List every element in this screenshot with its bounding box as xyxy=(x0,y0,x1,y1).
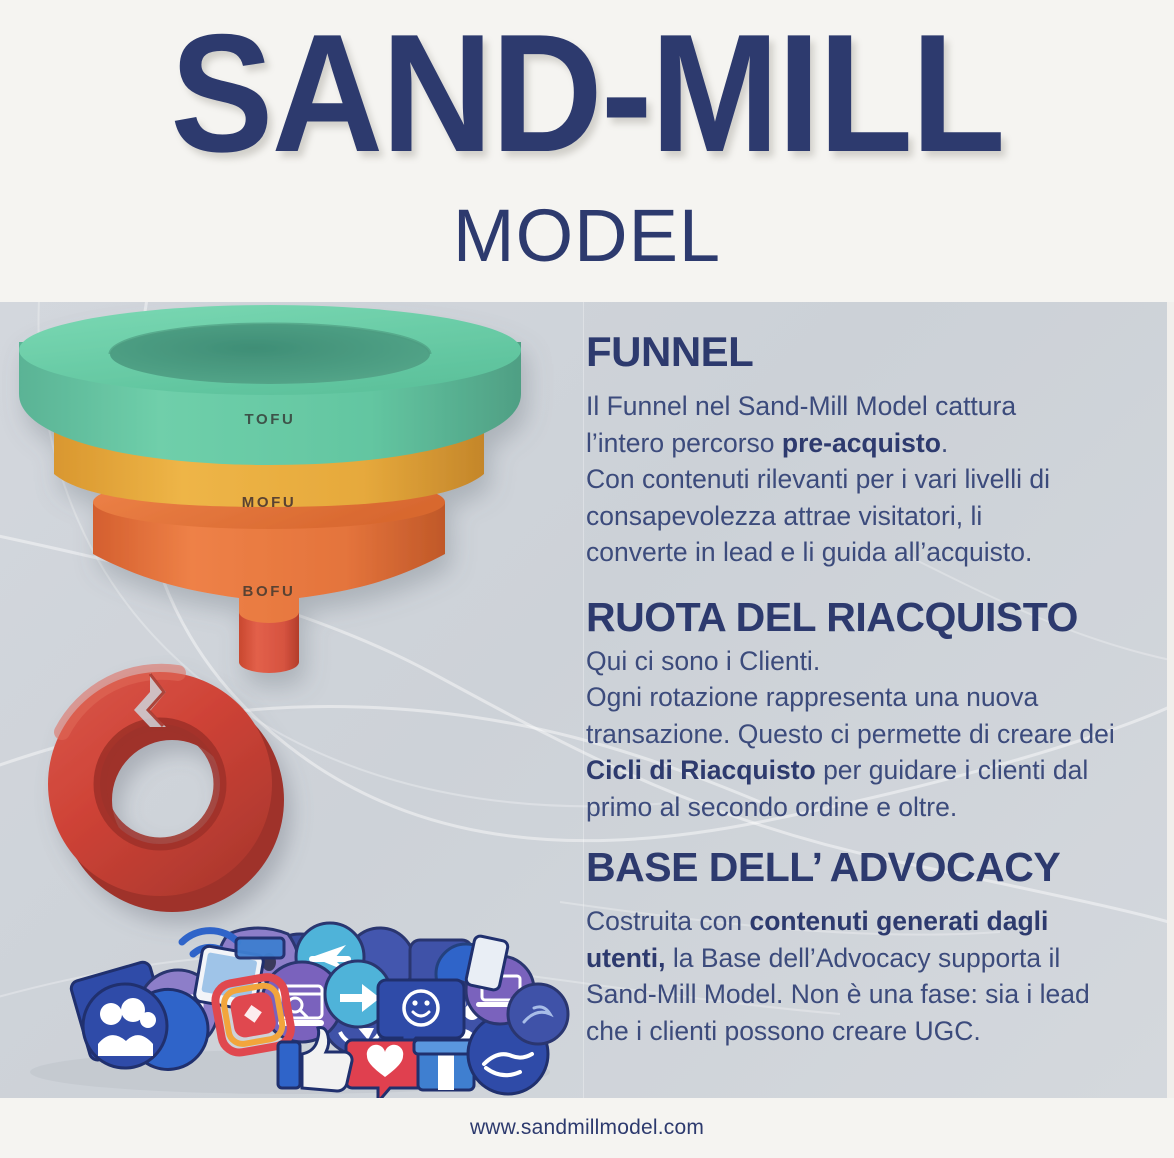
line: consapevolezza attrae visitatori, li xyxy=(586,498,1156,535)
section-ruota: RUOTA DEL RIACQUISTO Qui ci sono i Clien… xyxy=(586,591,1156,826)
line: Cicli di Riacquisto per guidare i client… xyxy=(586,752,1156,789)
line: Sand-Mill Model. Non è una fase: sia i l… xyxy=(586,976,1156,1013)
section-heading-ruota: RUOTA DEL RIACQUISTO xyxy=(586,591,1156,643)
funnel-label-mofu: MOFU xyxy=(242,494,297,511)
line: Con contenuti rilevanti per i vari livel… xyxy=(586,461,1156,498)
section-body-funnel: Il Funnel nel Sand-Mill Model cattura l’… xyxy=(586,388,1156,571)
line: l’intero percorso pre-acquisto. xyxy=(586,425,1156,462)
gift-box-2-icon xyxy=(236,938,284,958)
infographic-page: SAND-MILL MODEL xyxy=(0,0,1174,1158)
bird-icon xyxy=(508,984,568,1044)
website-link[interactable]: www.sandmillmodel.com xyxy=(470,1116,704,1140)
group-people-icon xyxy=(83,984,167,1068)
funnel-label-bofu: BOFU xyxy=(243,583,296,600)
section-body-advocacy: Costruita con contenuti generati dagli u… xyxy=(586,903,1156,1049)
stage-right-edge xyxy=(1167,302,1174,1098)
line: Ogni rotazione rappresenta una nuova xyxy=(586,679,1156,716)
line: utenti, la Base dell’Advocacy supporta i… xyxy=(586,940,1156,977)
page-title: SAND-MILL xyxy=(47,8,1127,178)
line: Costruita con contenuti generati dagli xyxy=(586,903,1156,940)
section-funnel: FUNNEL Il Funnel nel Sand-Mill Model cat… xyxy=(586,326,1156,571)
section-heading-funnel: FUNNEL xyxy=(586,326,1156,378)
funnel-tier-tofu: TOFU xyxy=(19,305,521,465)
page-subtitle: MODEL xyxy=(0,196,1174,276)
line: transazione. Questo ci permette di crear… xyxy=(586,716,1156,753)
heart-reaction-icon xyxy=(346,1040,424,1098)
line: Qui ci sono i Clienti. xyxy=(586,643,1156,680)
text-column: FUNNEL Il Funnel nel Sand-Mill Model cat… xyxy=(586,302,1172,1098)
section-body-ruota: Qui ci sono i Clienti. Ogni rotazione ra… xyxy=(586,643,1156,826)
panel-divider xyxy=(583,302,584,1098)
funnel-graphic: BOFU MOFU TOFU xyxy=(19,305,521,673)
line: primo al secondo ordine e oltre. xyxy=(586,789,1156,826)
repurchase-wheel-graphic xyxy=(48,651,384,912)
section-heading-advocacy: BASE DELL’ ADVOCACY xyxy=(586,841,1156,893)
funnel-label-tofu: TOFU xyxy=(245,411,296,428)
line: che i clienti possono creare UGC. xyxy=(586,1013,1156,1050)
section-advocacy: BASE DELL’ ADVOCACY Costruita con conten… xyxy=(586,841,1156,1049)
illustration-column: BOFU MOFU TOFU xyxy=(0,302,583,1098)
line: converte in lead e li guida all’acquisto… xyxy=(586,534,1156,571)
line: Il Funnel nel Sand-Mill Model cattura xyxy=(586,388,1156,425)
header-band: SAND-MILL MODEL xyxy=(0,0,1174,302)
footer-band: www.sandmillmodel.com xyxy=(0,1098,1174,1158)
advocacy-pile-graphic xyxy=(30,923,568,1098)
sand-mill-illustration: BOFU MOFU TOFU xyxy=(0,302,583,1098)
main-stage: BOFU MOFU TOFU xyxy=(0,302,1174,1098)
